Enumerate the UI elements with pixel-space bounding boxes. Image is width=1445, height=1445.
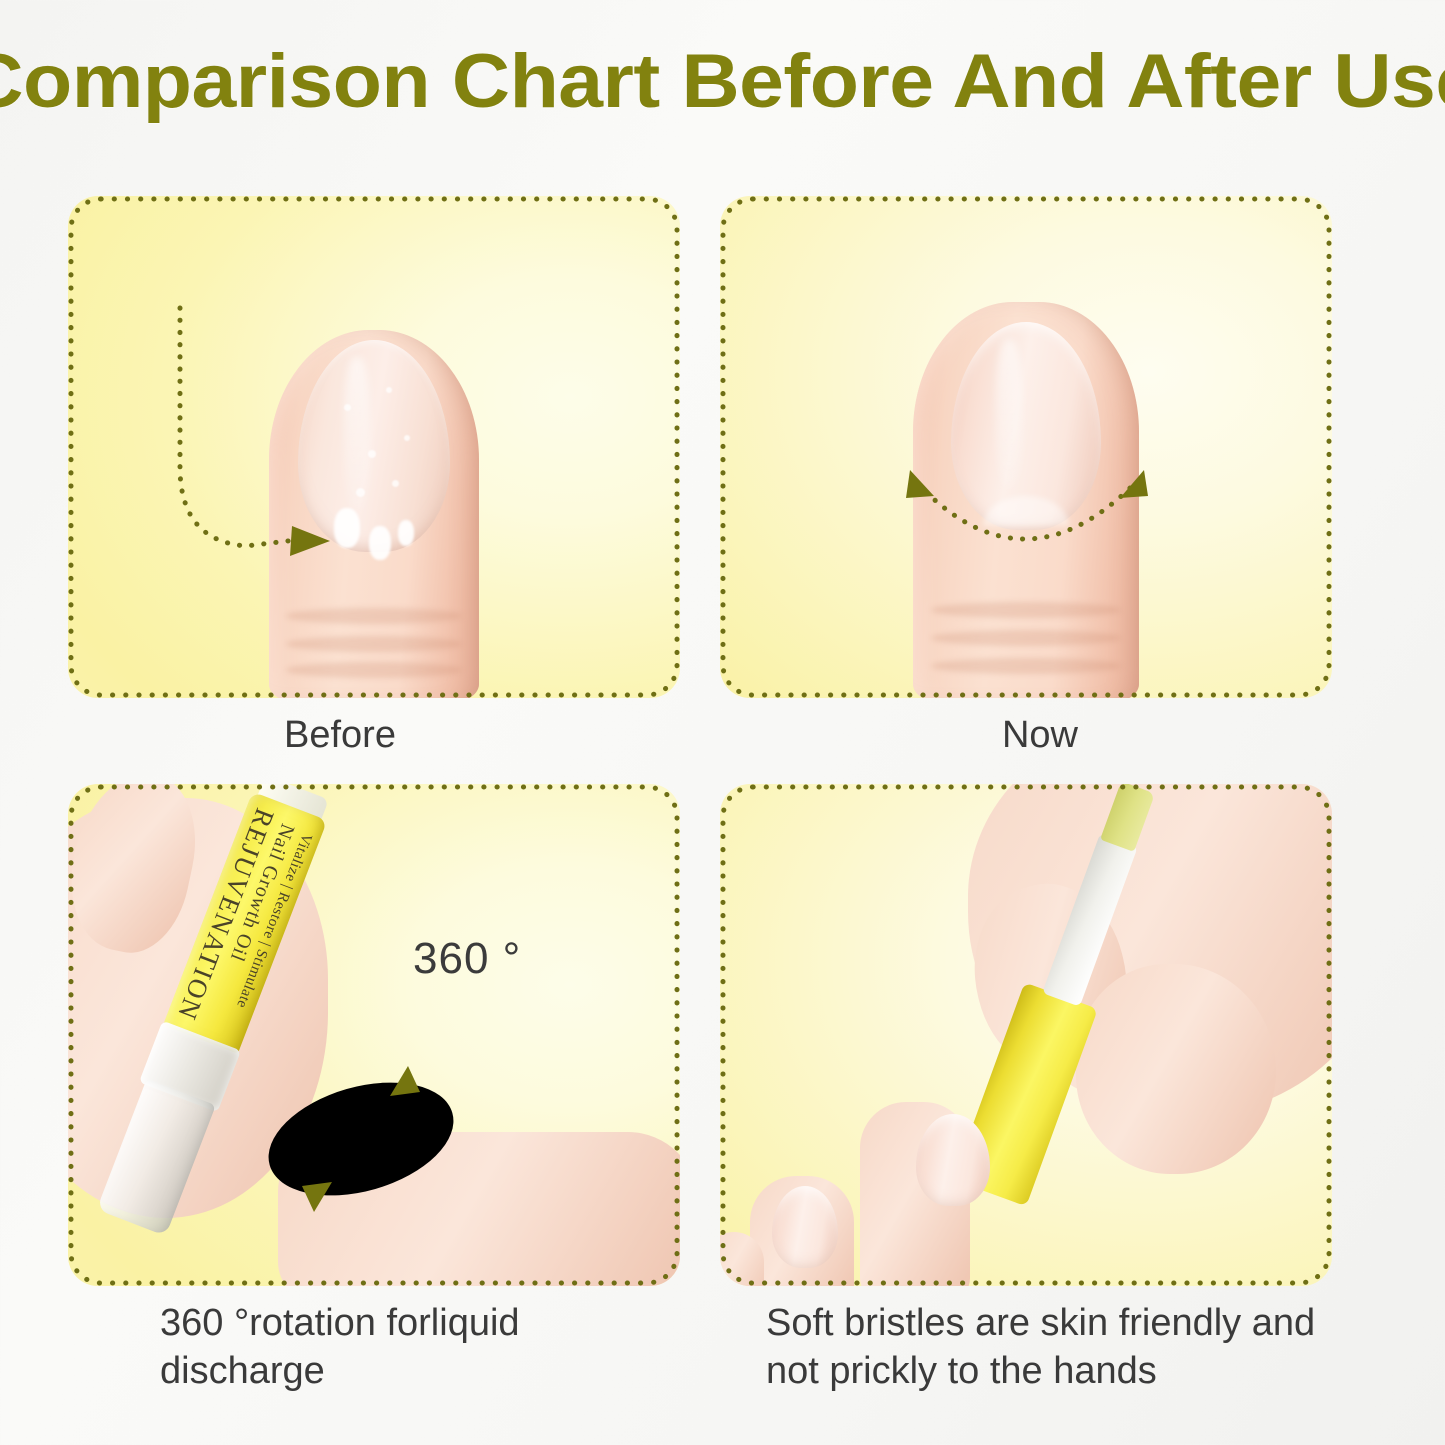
panel-bristles [720, 784, 1332, 1286]
nail-speck [368, 450, 376, 458]
nail-speck [344, 404, 351, 411]
knuckle-crease [286, 636, 462, 652]
knuckle-crease [931, 602, 1121, 618]
nail-sheen [344, 357, 370, 510]
nail-sheen [996, 339, 1022, 489]
rotation-degree-badge: 360 ° [413, 934, 521, 984]
knuckle-crease [286, 662, 462, 678]
panel-now-image [720, 196, 1332, 698]
knuckle-crease [286, 608, 462, 624]
nail-white-spot [334, 508, 360, 548]
nail-speck [386, 387, 392, 393]
nail-damaged [298, 340, 450, 552]
knuckle-crease [931, 630, 1121, 646]
finger-now [913, 302, 1139, 698]
panel-rotation-image: REJUVENATION Nail Growth Oil Vitalize | … [68, 784, 680, 1286]
nail-healthy [951, 322, 1101, 530]
finger-lower [278, 1132, 680, 1286]
panel-rotation: REJUVENATION Nail Growth Oil Vitalize | … [68, 784, 680, 1286]
knuckle-crease [931, 658, 1121, 674]
nail-speck [392, 480, 399, 487]
panel-before [68, 196, 680, 698]
caption-before: Before [0, 712, 680, 760]
soft-brush-tip [1100, 784, 1155, 852]
infographic-root: Comparison Chart Before And After Use [0, 0, 1445, 1445]
caption-bristles: Soft bristles are skin friendly and not … [766, 1300, 1326, 1395]
panel-now [720, 196, 1332, 698]
panel-before-image [68, 196, 680, 698]
caption-now: Now [690, 712, 1390, 760]
caption-rotation: 360 °rotation forliquid discharge [160, 1300, 680, 1395]
panel-bristles-image [720, 784, 1332, 1286]
page-title: Comparison Chart Before And After Use [0, 44, 1445, 120]
nail-white-spot [398, 520, 414, 546]
nail-white-spot [369, 526, 391, 560]
nail-lunula [983, 496, 1069, 526]
nail-speck [404, 435, 410, 441]
finger-before [269, 330, 479, 698]
